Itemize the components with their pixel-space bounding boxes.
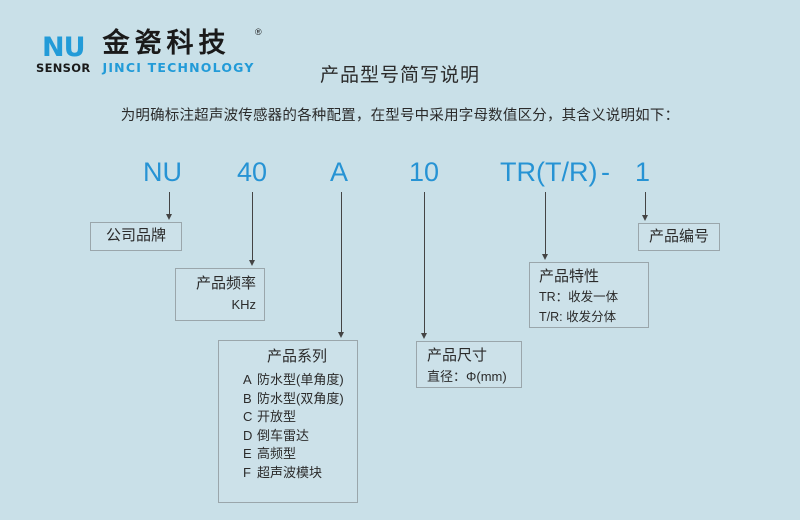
series-item-f: F超声波模块 xyxy=(219,464,357,482)
connector-line-series xyxy=(341,192,342,334)
logo-nu-text: NU xyxy=(42,34,85,61)
diagram-canvas: NU SENSOR 金瓷科技® JINCI TECHNOLOGY 产品型号简写说… xyxy=(0,0,800,520)
model-code-part-series: A xyxy=(330,157,348,188)
page-title: 产品型号简写说明 xyxy=(0,60,800,87)
callout-size-detail: 直径：Φ(mm) xyxy=(427,368,521,386)
callout-brand: 公司品牌 xyxy=(90,222,182,251)
series-item-e: E高频型 xyxy=(219,445,357,463)
series-label-d: 倒车雷达 xyxy=(257,428,309,443)
model-code-part-feature: TR(T/R) xyxy=(500,157,597,188)
series-key-f: F xyxy=(243,464,257,482)
callout-feature-title: 产品特性 xyxy=(539,267,648,287)
series-item-a: A防水型(单角度) xyxy=(219,371,357,389)
series-key-b: B xyxy=(243,390,257,408)
callout-frequency-title: 产品频率 xyxy=(176,274,256,294)
arrow-head-serial xyxy=(642,215,648,221)
series-label-a: 防水型(单角度) xyxy=(257,372,344,387)
model-code-part-size: 10 xyxy=(409,157,439,188)
series-label-e: 高频型 xyxy=(257,446,296,461)
series-key-e: E xyxy=(243,445,257,463)
feature-label-tr: 收发一体 xyxy=(568,290,618,304)
series-key-d: D xyxy=(243,427,257,445)
arrow-head-frequency xyxy=(249,260,255,266)
logo-company-name-cn-text: 金瓷科技 xyxy=(102,28,230,58)
feature-item-t-r: T/R: 收发分体 xyxy=(539,309,648,327)
series-label-c: 开放型 xyxy=(257,409,296,424)
series-item-b: B防水型(双角度) xyxy=(219,390,357,408)
feature-item-tr: TR：收发一体 xyxy=(539,289,648,307)
logo-company-name-cn: 金瓷科技® xyxy=(102,30,254,57)
arrow-head-series xyxy=(338,332,344,338)
connector-line-serial xyxy=(645,192,646,217)
feature-key-tr: TR： xyxy=(539,290,568,304)
arrow-head-feature xyxy=(542,254,548,260)
connector-line-feature xyxy=(545,192,546,256)
callout-frequency-unit: KHz xyxy=(176,297,256,312)
model-code-part-serial: 1 xyxy=(635,157,650,188)
callout-series: 产品系列 A防水型(单角度) B防水型(双角度) C开放型 D倒车雷达 E高频型… xyxy=(218,340,358,503)
callout-size-title: 产品尺寸 xyxy=(427,346,521,366)
feature-label-t-r: 收发分体 xyxy=(566,310,616,324)
callout-serial: 产品编号 xyxy=(638,223,720,251)
series-key-a: A xyxy=(243,371,257,389)
series-label-b: 防水型(双角度) xyxy=(257,391,344,406)
connector-line-size xyxy=(424,192,425,335)
connector-line-frequency xyxy=(252,192,253,262)
callout-frequency: 产品频率 KHz xyxy=(175,268,265,321)
series-item-d: D倒车雷达 xyxy=(219,427,357,445)
arrow-head-brand xyxy=(166,214,172,220)
series-key-c: C xyxy=(243,408,257,426)
model-code-part-freq: 40 xyxy=(237,157,267,188)
arrow-head-size xyxy=(421,333,427,339)
model-code-part-brand: NU xyxy=(143,157,182,188)
callout-feature: 产品特性 TR：收发一体 T/R: 收发分体 xyxy=(529,262,649,328)
callout-series-title: 产品系列 xyxy=(219,347,357,367)
registered-trademark-icon: ® xyxy=(255,28,267,37)
series-item-c: C开放型 xyxy=(219,408,357,426)
callout-size: 产品尺寸 直径：Φ(mm) xyxy=(416,341,522,388)
connector-line-brand xyxy=(169,192,170,216)
feature-key-t-r: T/R: xyxy=(539,310,566,324)
series-label-f: 超声波模块 xyxy=(257,465,322,480)
page-subtitle: 为明确标注超声波传感器的各种配置，在型号中采用字母数值区分，其含义说明如下： xyxy=(0,104,800,125)
callout-serial-title: 产品编号 xyxy=(649,227,709,247)
callout-brand-title: 公司品牌 xyxy=(106,226,166,246)
model-code-part-dash: - xyxy=(601,157,610,188)
